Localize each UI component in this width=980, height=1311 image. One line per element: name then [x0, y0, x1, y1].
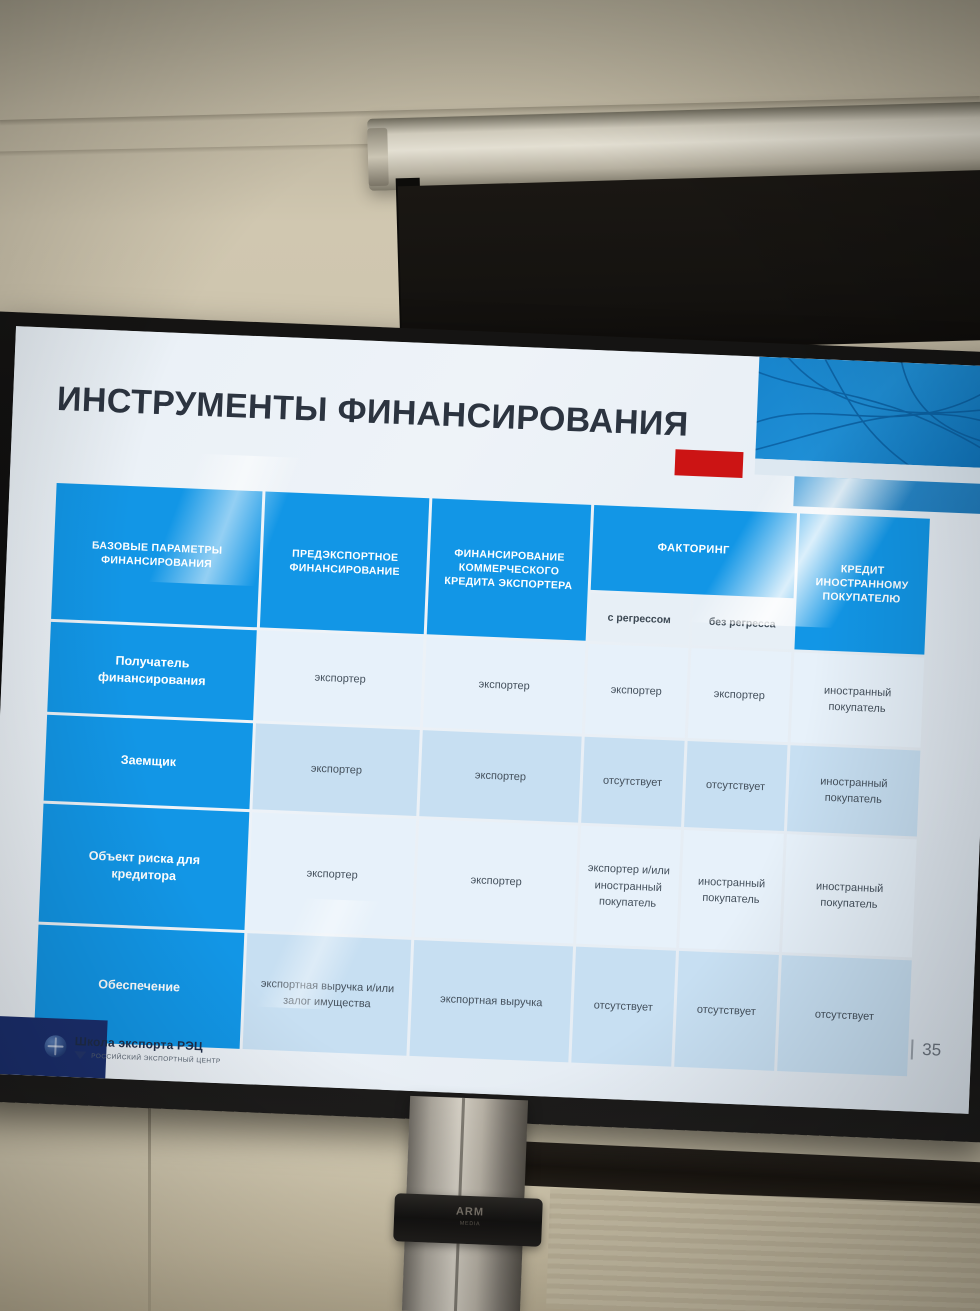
row-label-risk-object: Объект риска для кредитора	[39, 804, 250, 930]
header-foreign-buyer-credit: КРЕДИТ ИНОСТРАННОМУ ПОКУПАТЕЛЮ	[794, 513, 930, 654]
header-factoring-with-recourse: с регрессом	[588, 593, 690, 645]
cell-r1-c1: экспортер	[420, 730, 582, 822]
page-number-value: 35	[922, 1040, 942, 1061]
page-number-divider	[911, 1039, 914, 1059]
header-factoring-without-recourse: без регресса	[691, 597, 793, 649]
cabinet-door-seam	[148, 1100, 151, 1311]
financing-instruments-table: БАЗОВЫЕ ПАРАМЕТРЫ ФИНАНСИРОВАНИЯ ПРЕДЭКС…	[31, 480, 933, 1080]
cell-r2-c2: экспортер и/или иностранный покупатель	[576, 826, 681, 948]
cell-r1-c4: иностранный покупатель	[787, 745, 921, 836]
cell-r1-c3: отсутствует	[684, 741, 788, 831]
decorative-red-accent	[674, 449, 743, 478]
television-display: SAMSUNG	[0, 311, 980, 1142]
cell-r3-c4: отсутствует	[777, 955, 912, 1076]
cell-r3-c2: отсутствует	[571, 947, 676, 1067]
cell-r2-c0: экспортер	[248, 812, 417, 937]
cell-r0-c1: экспортер	[423, 637, 585, 733]
footer-logo-sub: РОССИЙСКИЙ ЭКСПОРТНЫЙ ЦЕНТР	[91, 1052, 221, 1064]
cell-r0-c3: экспортер	[687, 648, 791, 742]
cell-r2-c3: иностранный покупатель	[679, 830, 784, 952]
globe-icon	[44, 1034, 67, 1057]
row-label-financing-recipient: Получатель финансирования	[47, 622, 257, 720]
decorative-blue-lower	[793, 476, 980, 514]
table-body: Получатель финансирования экспортер эксп…	[34, 622, 924, 1076]
header-base-parameters: БАЗОВЫЕ ПАРАМЕТРЫ ФИНАНСИРОВАНИЯ	[51, 483, 263, 627]
cell-r2-c1: экспортер	[415, 819, 578, 943]
cell-r0-c0: экспортер	[256, 630, 424, 727]
page-number: 35	[911, 1039, 942, 1060]
decorative-blue-block	[755, 357, 980, 469]
projector-screen-dark-area	[398, 170, 980, 357]
decorative-lines-icon	[755, 357, 980, 469]
photo-scene: SAMSUNG	[0, 0, 980, 1311]
cell-r0-c2: экспортер	[584, 644, 688, 738]
window-blinds	[546, 1188, 980, 1311]
header-pre-export-financing: ПРЕДЭКСПОРТНОЕ ФИНАНСИРОВАНИЕ	[260, 492, 430, 635]
cell-r3-c0: экспортная выручка и/или залог имущества	[243, 933, 412, 1056]
cell-r3-c3: отсутствует	[674, 951, 779, 1071]
tv-screen: ИНСТРУМЕНТЫ ФИНАНСИРОВАНИЯ БАЗОВЫЕ ПАРАМ…	[0, 326, 980, 1114]
cell-r2-c4: иностранный покупатель	[782, 834, 917, 957]
cell-r3-c1: экспортная выручка	[410, 940, 573, 1062]
presentation-slide: ИНСТРУМЕНТЫ ФИНАНСИРОВАНИЯ БАЗОВЫЕ ПАРАМ…	[0, 326, 980, 1114]
triangle-icon	[74, 1051, 86, 1059]
header-factoring: ФАКТОРИНГ	[590, 505, 797, 598]
row-label-borrower: Заемщик	[44, 715, 254, 809]
cell-r1-c0: экспортер	[253, 723, 421, 816]
header-commercial-credit-financing: ФИНАНСИРОВАНИЕ КОММЕРЧЕСКОГО КРЕДИТА ЭКС…	[427, 498, 591, 640]
cell-r1-c2: отсутствует	[581, 737, 685, 827]
projector-screen-end-cap	[367, 128, 389, 187]
cell-r0-c4: иностранный покупатель	[790, 652, 924, 747]
page-title: ИНСТРУМЕНТЫ ФИНАНСИРОВАНИЯ	[56, 380, 689, 445]
